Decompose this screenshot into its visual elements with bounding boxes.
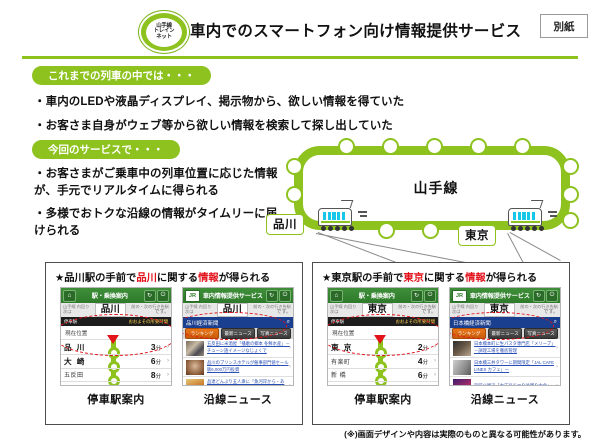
app-bar: JR 車内情報提供サービス ↻ ⏻ bbox=[450, 288, 560, 303]
search-bar[interactable]: 日本橋経済新聞 ⌕ bbox=[450, 317, 560, 328]
now-bullet-1: ・お客さまがご乗車中の列車位置に応じた情報が、手元でリアルタイムに得られる bbox=[34, 166, 284, 199]
phone-screenshot: ⌂ 駅・乗換案内 ↻ ⏻ 山手線 内回り 次は 東京 bbox=[327, 287, 439, 386]
loop-station-node bbox=[286, 158, 303, 175]
tab-photo-news[interactable]: 写真ニュース bbox=[524, 328, 558, 339]
search-icon[interactable]: ⌕ bbox=[287, 319, 290, 326]
stop-time: 3分 bbox=[151, 342, 161, 352]
subheader-left: 停車駅 bbox=[331, 319, 344, 325]
loop-station-node bbox=[426, 138, 443, 155]
banner-left-text: 山手線 内回り 次は bbox=[452, 305, 478, 315]
current-station-name: 品川 bbox=[217, 303, 248, 317]
table-row[interactable]: 新 橋 6分 › bbox=[328, 369, 438, 383]
stop-time: 10分 bbox=[146, 383, 161, 386]
app-bar-title: 車内情報提供サービス bbox=[203, 291, 263, 300]
panel-heading-red2: 情報 bbox=[198, 273, 219, 284]
speed-line bbox=[360, 215, 367, 217]
phone-caption: 沿線ニュース bbox=[182, 391, 294, 407]
panel-heading-red2: 情報 bbox=[465, 273, 486, 284]
panel-heading: ★品川駅の手前で品川に関する情報が得られる bbox=[55, 269, 270, 284]
loop-station-node bbox=[378, 222, 395, 239]
refresh-icon[interactable]: ↻ bbox=[411, 290, 423, 302]
home-icon[interactable]: ⌂ bbox=[63, 290, 76, 302]
news-headline: 日本橋三井タワーに期間限定「JAL CAFE LINES カフェ」ー bbox=[474, 360, 557, 373]
current-station-name: 東京 bbox=[362, 303, 393, 317]
yamanote-train-net-logo: 山手線 トレイン ネット bbox=[139, 11, 189, 53]
panel-heading-part2: に関する bbox=[424, 273, 465, 284]
train-icon-shinagawa bbox=[316, 200, 356, 230]
past-bullet-1: ・車内のLEDや液晶ディスプレイ、掲示物から、欲しい情報を得ていた bbox=[34, 93, 404, 109]
phone-stop-guide: ⌂ 駅・乗換案内 ↻ ⏻ 山手線 内回り 次は 品川 bbox=[60, 287, 172, 407]
list-item[interactable]: 品川のプリンスホテルが催事部門値セール販6,000万円投資 › bbox=[183, 358, 293, 377]
list-item[interactable]: 日本橋本町に生パスタ専門店「メリーブ」－調理工場を徹底管理 › bbox=[450, 339, 560, 358]
search-input[interactable]: 日本橋経済新聞 bbox=[453, 319, 491, 327]
jr-logo-icon: JR bbox=[185, 290, 200, 302]
phone-caption: 沿線ニュース bbox=[449, 391, 561, 407]
list-subheader: 停車駅 おおよその所要時間 bbox=[328, 317, 438, 326]
table-row[interactable]: 目 黒 10分 › bbox=[61, 382, 171, 386]
stop-time: 4分 bbox=[418, 356, 428, 366]
header-divider bbox=[22, 56, 578, 59]
slide-root: 山手線 トレイン ネット 車内でのスマートフォン向け情報提供サービス 別紙 これ… bbox=[0, 0, 600, 444]
news-tabs: ランキング 最新ニュース 写真ニュース bbox=[183, 328, 293, 339]
news-thumbnail bbox=[186, 360, 204, 375]
panel-tokyo: ★東京駅の手前で東京に関する情報が得られる ⌂ 駅・乗換案内 ↻ ⏻ 山 bbox=[312, 262, 570, 425]
stop-name: 大 崎 bbox=[64, 356, 100, 367]
phone-stop-guide: ⌂ 駅・乗換案内 ↻ ⏻ 山手線 内回り 次は 東京 bbox=[327, 287, 439, 407]
tab-photo-news[interactable]: 写真ニュース bbox=[257, 328, 291, 339]
banner-left-text: 山手線 内回り 次は bbox=[185, 305, 211, 315]
tab-ranking[interactable]: ランキング bbox=[185, 328, 219, 339]
chevron-right-icon: › bbox=[556, 383, 558, 386]
logo-inner: 山手線 トレイン ネット bbox=[146, 18, 182, 47]
loop-station-node bbox=[470, 138, 487, 155]
phone-screenshot: ⌂ 駅・乗換案内 ↻ ⏻ 山手線 内回り 次は 品川 bbox=[60, 287, 172, 386]
loop-station-node bbox=[514, 138, 531, 155]
news-tabs: ランキング 最新ニュース 写真ニュース bbox=[450, 328, 560, 339]
list-subheader: 停車駅 おおよその所要時間 bbox=[61, 317, 171, 326]
page-title: 車内でのスマートフォン向け情報提供サービス bbox=[190, 19, 521, 41]
news-thumbnail bbox=[453, 360, 471, 375]
news-thumbnail bbox=[453, 379, 471, 387]
tab-ranking[interactable]: ランキング bbox=[452, 328, 486, 339]
refresh-icon[interactable]: ↻ bbox=[266, 290, 278, 302]
phone-caption: 停車駅案内 bbox=[60, 391, 172, 407]
loop-title: 山手線 bbox=[286, 178, 586, 198]
speed-line bbox=[548, 211, 557, 213]
table-row[interactable]: 東 京 2分 › bbox=[328, 340, 438, 355]
station-banner: 山手線 内回り 次は 品川 前の・次の行き先駅 です。 bbox=[183, 303, 293, 317]
chevron-right-icon: › bbox=[167, 344, 169, 350]
power-icon[interactable]: ⏻ bbox=[279, 290, 291, 302]
banner-right-text: 前の・次の行き先駅 です。 bbox=[520, 305, 558, 316]
footnote: (※)画面デザインや内容は実際のものと異なる可能性があります。 bbox=[0, 428, 586, 440]
panel-heading-part3: が得られる bbox=[486, 273, 537, 284]
chevron-right-icon: › bbox=[556, 364, 558, 370]
chevron-right-icon: › bbox=[289, 383, 291, 386]
stop-name: 東 京 bbox=[331, 342, 367, 353]
phone-line-news: JR 車内情報提供サービス ↻ ⏻ 山手線 内回り 次は 品川 bbox=[182, 287, 294, 407]
section-label-now: 今回のサービスで・・・ bbox=[32, 140, 180, 159]
panel-heading-red1: 品川 bbox=[136, 273, 157, 284]
panel-heading-part2: に関する bbox=[157, 273, 198, 284]
news-thumbnail bbox=[186, 379, 204, 387]
phone-pair: ⌂ 駅・乗換案内 ↻ ⏻ 山手線 内回り 次は 品川 bbox=[60, 287, 294, 407]
app-bar-title: 駅・乗換案内 bbox=[359, 291, 395, 300]
list-item[interactable]: 浜町公園で「大江戸まつり盆踊り大会」 › bbox=[450, 377, 560, 386]
station-list: 現在位置 品 川 3分 › 大 崎 bbox=[61, 326, 171, 386]
stop-name: 五反田 bbox=[64, 370, 100, 379]
subheader-right: おおよその所要時間 bbox=[128, 319, 168, 325]
speed-line bbox=[358, 211, 367, 213]
table-row[interactable]: 浜松町 8分 › bbox=[328, 382, 438, 386]
chevron-right-icon: › bbox=[556, 345, 558, 351]
train-icon-tokyo bbox=[506, 200, 546, 230]
app-bar: ⌂ 駅・乗換案内 ↻ ⏻ bbox=[61, 288, 171, 303]
loop-station-node bbox=[562, 158, 579, 175]
stop-time: 8分 bbox=[418, 383, 428, 386]
panel-heading-part1: 東京駅の手前で bbox=[331, 273, 403, 284]
phone-line-news: JR 車内情報提供サービス ↻ ⏻ 山手線 内回り 次は 東京 bbox=[449, 287, 561, 407]
stop-name: 品 川 bbox=[64, 342, 100, 353]
section-label-past: これまでの列車の中では・・・ bbox=[32, 66, 211, 85]
news-thumbnail bbox=[453, 341, 471, 356]
jr-logo-icon: JR bbox=[452, 290, 467, 302]
panel-heading-star: ★ bbox=[55, 273, 64, 284]
loop-station-node bbox=[422, 222, 439, 239]
list-item[interactable]: 五反田に米酒屋「播磨の郷本 冬鮮水産」－チューン語イメージなじょくで › bbox=[183, 339, 293, 358]
station-banner: 山手線 内回り 次は 東京 前の・次の行き先駅 です。 bbox=[450, 303, 560, 317]
search-input[interactable]: 品川経済新聞 bbox=[186, 319, 218, 327]
loop-label-tokyo: 東京 bbox=[458, 225, 496, 246]
loop-station-node bbox=[286, 186, 303, 203]
stop-name: 有楽町 bbox=[331, 357, 367, 366]
banner-left-text: 山手線 内回り 次は bbox=[330, 305, 356, 315]
current-station-name: 品川 bbox=[95, 303, 126, 317]
current-station-name: 東京 bbox=[484, 303, 515, 317]
loop-station-node bbox=[562, 212, 579, 229]
subheader-left: 停車駅 bbox=[64, 319, 77, 325]
banner-right-text: 前の・次の行き先駅 です。 bbox=[253, 305, 291, 316]
chevron-right-icon: › bbox=[434, 358, 436, 364]
stop-time: 6分 bbox=[418, 370, 428, 380]
stop-time: 8分 bbox=[151, 370, 161, 380]
chevron-right-icon: › bbox=[289, 364, 291, 370]
chevron-right-icon: › bbox=[289, 345, 291, 351]
news-headline: 日本橋本町に生パスタ専門店「メリーブ」－調理工場を徹底管理 bbox=[474, 341, 557, 354]
chevron-right-icon: › bbox=[434, 372, 436, 378]
phone-caption: 停車駅案内 bbox=[327, 391, 439, 407]
phone-screenshot: JR 車内情報提供サービス ↻ ⏻ 山手線 内回り 次は 品川 bbox=[182, 287, 294, 386]
refresh-icon[interactable]: ↻ bbox=[144, 290, 156, 302]
loop-station-node bbox=[338, 138, 355, 155]
home-icon[interactable]: ⌂ bbox=[330, 290, 343, 302]
yamanote-loop-diagram: 山手線 品川 東京 bbox=[286, 142, 586, 242]
news-headline: 五反田に米酒屋「播磨の郷本 冬鮮水産」－チューン語イメージなじょくで bbox=[207, 341, 290, 354]
chevron-right-icon: › bbox=[167, 385, 169, 386]
news-thumbnail bbox=[186, 341, 204, 356]
news-headline: 浜町公園で「大江戸まつり盆踊り大会」 bbox=[474, 383, 551, 386]
list-item[interactable]: 品達どんぶり五人衆に「魚河岸から・あげ」オープン、一般店頭の発祥徳へ › bbox=[183, 377, 293, 386]
stop-time: 2分 bbox=[418, 342, 428, 352]
chevron-right-icon: › bbox=[434, 385, 436, 386]
panel-heading-star: ★ bbox=[322, 273, 331, 284]
app-bar-title: 車内情報提供サービス bbox=[470, 291, 530, 300]
panel-shinagawa: ★品川駅の手前で品川に関する情報が得られる ⌂ 駅・乗換案内 ↻ ⏻ bbox=[45, 262, 303, 425]
app-bar-title: 駅・乗換案内 bbox=[92, 291, 128, 300]
table-row[interactable]: 大 崎 6分 › bbox=[61, 355, 171, 369]
past-bullet-2: ・お客さま自身がウェブ等から欲しい情報を検索して探し出していた bbox=[34, 117, 393, 133]
table-row[interactable]: 五反田 8分 › bbox=[61, 369, 171, 383]
now-bullet-2: ・多様でおトクな沿線の情報がタイムリーに届けられる bbox=[34, 206, 284, 239]
loop-station-node bbox=[562, 186, 579, 203]
power-icon[interactable]: ⏻ bbox=[546, 290, 558, 302]
app-bar: ⌂ 駅・乗換案内 ↻ ⏻ bbox=[328, 288, 438, 303]
station-banner: 山手線 内回り 次は 東京 前の・次の行き先駅 です。 bbox=[328, 303, 438, 317]
power-icon[interactable]: ⏻ bbox=[424, 290, 436, 302]
news-headline: 品達どんぶり五人衆に「魚河岸から・あげ」オープン、一般店頭の発祥徳へ bbox=[207, 379, 290, 386]
phone-pair: ⌂ 駅・乗換案内 ↻ ⏻ 山手線 内回り 次は 東京 bbox=[327, 287, 561, 407]
speed-line bbox=[550, 215, 557, 217]
panel-heading-part1: 品川駅の手前で bbox=[64, 273, 136, 284]
table-row[interactable]: 品 川 3分 › bbox=[61, 340, 171, 355]
search-icon[interactable]: ⌕ bbox=[554, 319, 557, 326]
banner-right-text: 前の・次の行き先駅 です。 bbox=[398, 305, 436, 316]
stop-name: 目 黒 bbox=[64, 384, 100, 386]
loop-station-node bbox=[382, 138, 399, 155]
tab-latest-news[interactable]: 最新ニュース bbox=[221, 328, 255, 339]
panel-heading-red1: 東京 bbox=[403, 273, 424, 284]
chevron-right-icon: › bbox=[167, 358, 169, 364]
chevron-right-icon: › bbox=[434, 344, 436, 350]
tab-latest-news[interactable]: 最新ニュース bbox=[488, 328, 522, 339]
besshi-badge: 別紙 bbox=[540, 14, 588, 38]
station-banner: 山手線 内回り 次は 品川 前の・次の行き先駅 です。 bbox=[61, 303, 171, 317]
list-item[interactable]: 日本橋三井タワーに期間限定「JAL CAFE LINES カフェ」ー › bbox=[450, 358, 560, 377]
banner-right-text: 前の・次の行き先駅 です。 bbox=[131, 305, 169, 316]
stop-name: 浜松町 bbox=[331, 384, 367, 386]
stop-time: 6分 bbox=[151, 356, 161, 366]
news-headline: 品川のプリンスホテルが催事部門値セール販6,000万円投資 bbox=[207, 360, 290, 373]
search-bar[interactable]: 品川経済新聞 ⌕ bbox=[183, 317, 293, 328]
chevron-right-icon: › bbox=[167, 372, 169, 378]
banner-left-text: 山手線 内回り 次は bbox=[63, 305, 89, 315]
app-bar: JR 車内情報提供サービス ↻ ⏻ bbox=[183, 288, 293, 303]
phone-screenshot: JR 車内情報提供サービス ↻ ⏻ 山手線 内回り 次は 東京 bbox=[449, 287, 561, 386]
power-icon[interactable]: ⏻ bbox=[157, 290, 169, 302]
logo-line-3: ネット bbox=[156, 35, 172, 40]
stop-name: 新 橋 bbox=[331, 370, 367, 379]
panel-heading: ★東京駅の手前で東京に関する情報が得られる bbox=[322, 269, 537, 284]
table-row[interactable]: 有楽町 4分 › bbox=[328, 355, 438, 369]
subheader-right: おおよその所要時間 bbox=[395, 319, 435, 325]
loop-label-shinagawa: 品川 bbox=[266, 214, 304, 235]
station-list: 現在位置 東 京 2分 › 有楽町 bbox=[328, 326, 438, 386]
panel-heading-part3: が得られる bbox=[219, 273, 270, 284]
refresh-icon[interactable]: ↻ bbox=[533, 290, 545, 302]
